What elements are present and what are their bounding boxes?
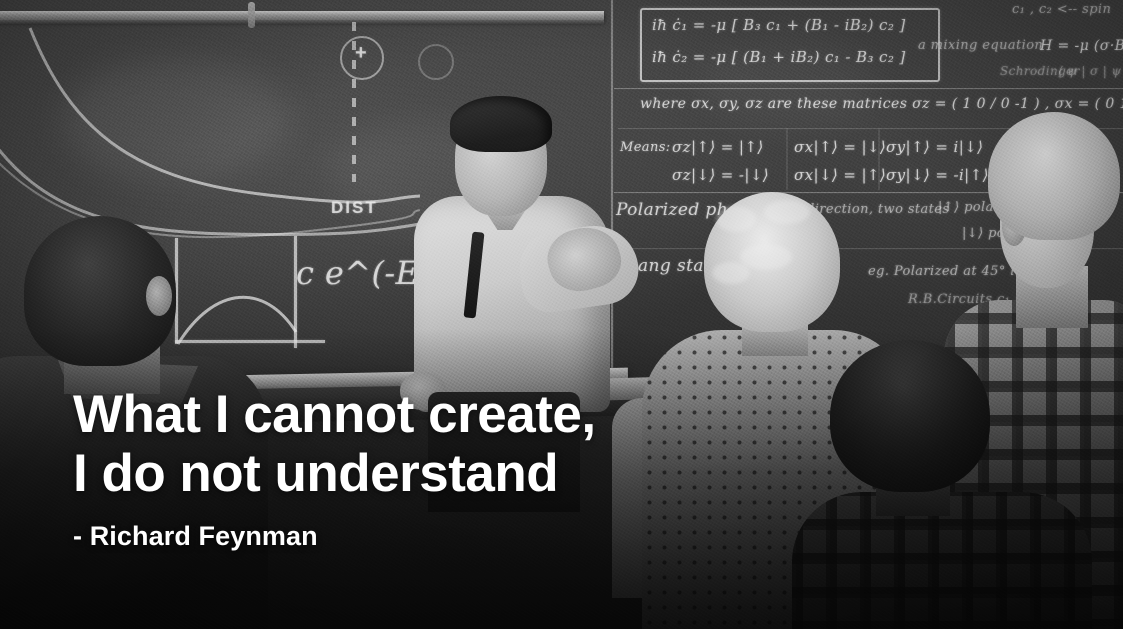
hair-curl xyxy=(740,244,792,270)
hair-curl xyxy=(712,262,750,284)
student-dark-hair-left-ear xyxy=(146,276,172,316)
hair-curl xyxy=(716,206,756,232)
hair-curl xyxy=(764,200,810,224)
quote-image: + + DIST c e^(-Eᵢ/kT) iħ ċ₁ = -μ [ B₃ c₁… xyxy=(0,0,1123,629)
braket-table-divider xyxy=(878,128,880,190)
equation-box xyxy=(640,8,940,82)
feynman-hair xyxy=(450,96,552,152)
student-blond-plaid-right-hair xyxy=(988,112,1120,240)
quote-text: What I cannot create, I do not understan… xyxy=(73,385,596,503)
graph-hump-curve xyxy=(168,226,348,356)
quote-attribution: - Richard Feynman xyxy=(73,521,318,552)
blackboard-seam-horizontal xyxy=(614,88,1123,90)
braket-table-divider xyxy=(786,128,788,190)
quote-line-1: What I cannot create, xyxy=(73,385,596,444)
circled-plus-outline xyxy=(340,36,384,80)
blackboard-seam-vertical xyxy=(610,0,614,392)
student-dark-hair-plaid-hair xyxy=(830,340,990,492)
circle-mark xyxy=(418,44,454,80)
quote-line-2: I do not understand xyxy=(73,444,596,503)
